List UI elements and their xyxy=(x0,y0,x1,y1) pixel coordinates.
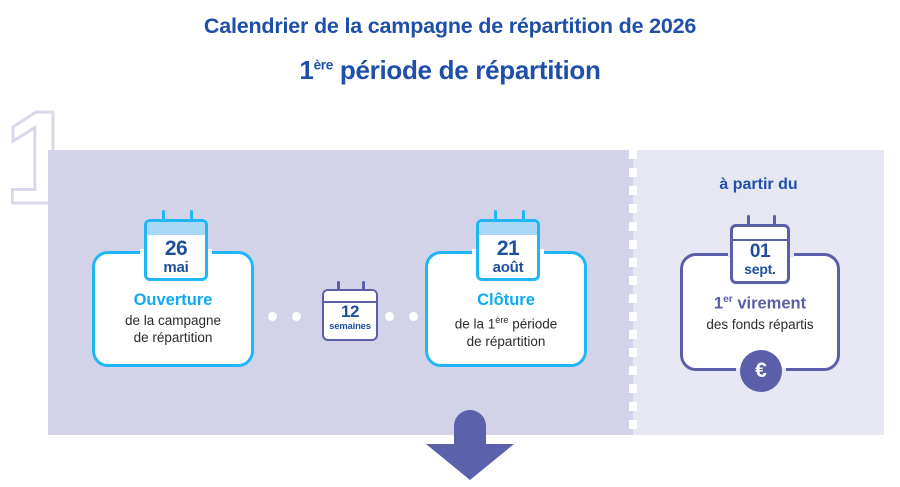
header-block: Calendrier de la campagne de répartition… xyxy=(0,0,900,86)
calendar-icon-ouverture: 26 mai xyxy=(144,219,208,281)
card-cloture-body-prefix: de la 1 xyxy=(455,317,496,332)
down-arrow-icon xyxy=(418,404,522,482)
calendar-band-cloture xyxy=(479,222,537,235)
card-cloture-heading: Clôture xyxy=(428,290,584,310)
card-virement-heading-text: virement xyxy=(733,295,806,313)
calendar-band-ouverture xyxy=(147,222,205,235)
connector-dot xyxy=(409,312,418,321)
calendar-month-ouverture: mai xyxy=(147,260,205,276)
card-cloture-body-ordinal: ère xyxy=(495,315,508,325)
calendar-icon-cloture: 21 août xyxy=(476,219,540,281)
card-virement-heading: 1er virement xyxy=(683,290,837,314)
calendar-day-cloture: 21 xyxy=(479,238,537,260)
calendar-month-virement: sept. xyxy=(733,262,787,277)
card-cloture-body-rest: période xyxy=(509,317,558,332)
card-ouverture-body-line1: de la campagne xyxy=(95,312,251,329)
duration-unit: semaines xyxy=(324,321,376,332)
duration-value: 12 xyxy=(324,303,376,321)
calendar-icon-virement: 01 sept. xyxy=(730,224,790,284)
page-subtitle: 1ère période de répartition xyxy=(0,39,900,86)
card-virement-heading-ordinal: er xyxy=(723,294,733,305)
calendar-day-ouverture: 26 xyxy=(147,238,205,260)
connector-dot xyxy=(385,312,394,321)
connector-dot xyxy=(268,312,277,321)
payment-label: à partir du xyxy=(633,176,884,194)
card-ouverture-heading: Ouverture xyxy=(95,290,251,310)
card-virement-body: des fonds répartis xyxy=(683,316,837,333)
card-cloture-body-line1: de la 1ère période xyxy=(428,312,584,333)
subtitle-text: période de répartition xyxy=(333,55,601,85)
card-virement-heading-number: 1 xyxy=(714,295,723,313)
subtitle-ordinal-suffix: ère xyxy=(314,57,333,72)
connector-dot xyxy=(292,312,301,321)
calendar-icon-duration: 12 semaines xyxy=(322,289,378,341)
calendar-band-virement xyxy=(733,227,787,241)
calendar-day-virement: 01 xyxy=(733,242,787,262)
page-title: Calendrier de la campagne de répartition… xyxy=(0,0,900,39)
subtitle-number: 1 xyxy=(299,55,313,85)
card-ouverture-body-line2: de répartition xyxy=(95,329,251,346)
calendar-month-cloture: août xyxy=(479,260,537,276)
euro-badge-icon: € xyxy=(740,350,782,392)
card-cloture-body-line2: de répartition xyxy=(428,333,584,350)
